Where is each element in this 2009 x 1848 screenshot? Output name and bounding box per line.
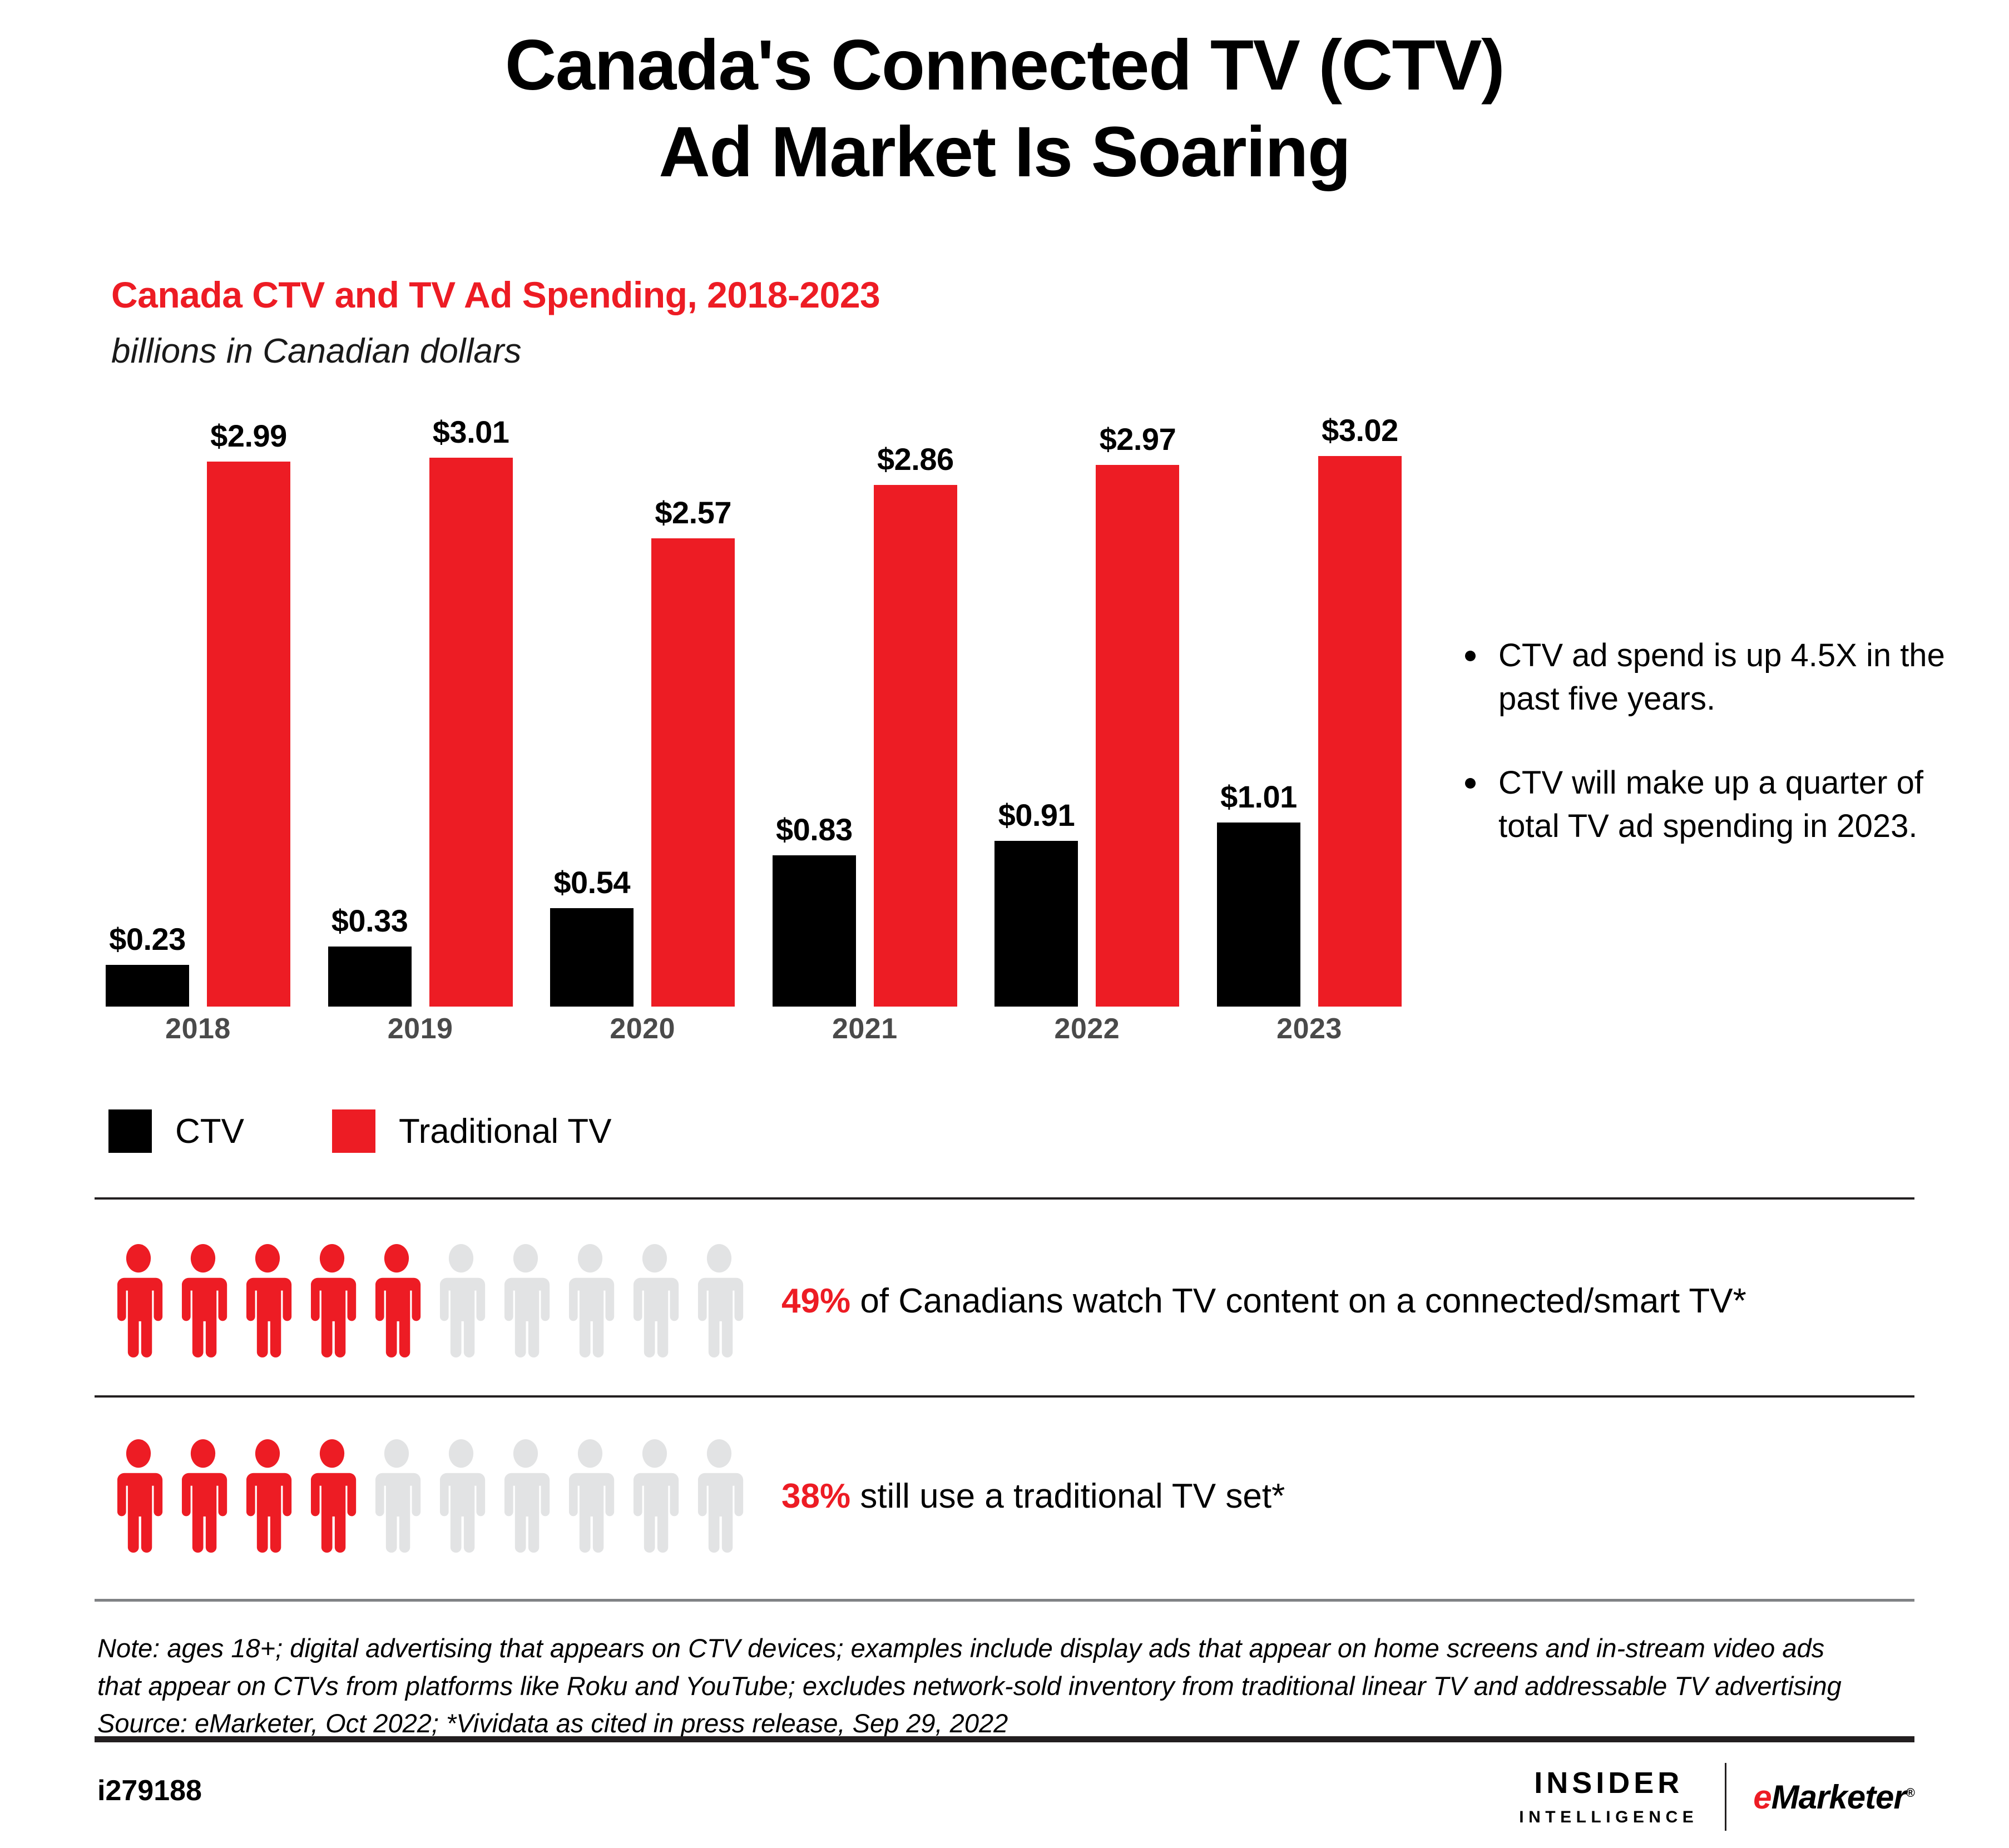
bar-value-label: $0.54 <box>553 864 630 900</box>
chart-plot-area: $0.23$2.99$0.33$3.01$0.54$2.57$0.83$2.86… <box>106 456 1402 1007</box>
person-icon <box>496 1439 556 1553</box>
takeaway-bullet-1: CTV ad spend is up 4.5X in the past five… <box>1457 634 1980 720</box>
person-icon <box>560 1439 620 1553</box>
stat-text: of Canadians watch TV content on a conne… <box>850 1282 1746 1320</box>
bar-value-label: $0.33 <box>331 903 408 939</box>
bar-value-label: $2.57 <box>655 494 731 531</box>
bar-value-label: $2.97 <box>1100 421 1176 457</box>
bar-ctv-2022: $0.91 <box>994 841 1078 1007</box>
bar-traditional-tv-2020: $2.57 <box>651 538 735 1007</box>
bar-traditional-tv-2022: $2.97 <box>1096 465 1179 1007</box>
person-icon <box>689 1244 749 1358</box>
divider-between-stats <box>95 1395 1914 1398</box>
takeaway-text: CTV will make up a quarter of total TV a… <box>1498 765 1923 844</box>
bar-value-label: $2.99 <box>210 418 287 454</box>
headline-line-1: Canada's Connected TV (CTV) <box>505 26 1504 105</box>
logo-separator <box>1725 1763 1726 1831</box>
legend-item-traditional-tv: Traditional TV <box>332 1109 612 1153</box>
bar-ctv-2021: $0.83 <box>773 855 856 1007</box>
bar-value-label: $3.01 <box>433 414 509 450</box>
legend-label: CTV <box>175 1112 244 1151</box>
note-line-1: Note: ages 18+; digital advertising that… <box>97 1629 1927 1667</box>
page-title: Canada's Connected TV (CTV) Ad Market Is… <box>0 22 2009 196</box>
emarketer-e: e <box>1753 1778 1771 1816</box>
person-icon <box>496 1244 556 1358</box>
bar-value-label: $0.83 <box>776 811 853 848</box>
pictogram-people <box>108 1244 759 1358</box>
chart-legend: CTVTraditional TV <box>108 1109 612 1153</box>
footnotes: Note: ages 18+; digital advertising that… <box>97 1629 1927 1742</box>
legend-item-ctv: CTV <box>108 1109 244 1153</box>
bar-value-label: $0.91 <box>998 797 1075 833</box>
x-axis-label-2020: 2020 <box>550 1012 735 1046</box>
bar-traditional-tv-2021: $2.86 <box>874 485 957 1007</box>
person-icon <box>625 1439 685 1553</box>
emarketer-rest: Marketer <box>1772 1778 1906 1816</box>
takeaway-text: CTV ad spend is up 4.5X in the past five… <box>1498 637 1945 717</box>
bar-traditional-tv-2018: $2.99 <box>207 462 290 1007</box>
stat-percent: 49% <box>781 1282 850 1320</box>
x-axis-label-2019: 2019 <box>328 1012 513 1046</box>
bar-value-label: $2.86 <box>877 441 954 477</box>
takeaway-bullet-2: CTV will make up a quarter of total TV a… <box>1457 761 1980 848</box>
bar-group: $0.54$2.57 <box>550 456 735 1007</box>
x-axis-label-2021: 2021 <box>773 1012 957 1046</box>
registered-mark: ® <box>1906 1786 1914 1800</box>
infographic-page: Canada's Connected TV (CTV) Ad Market Is… <box>0 0 2009 1848</box>
bar-value-label: $1.01 <box>1220 779 1297 815</box>
bar-ctv-2018: $0.23 <box>106 965 189 1007</box>
x-axis-label-2022: 2022 <box>994 1012 1179 1046</box>
stat-description: 38% still use a traditional TV set* <box>781 1477 1285 1516</box>
chart-id: i279188 <box>97 1774 202 1807</box>
legend-swatch-icon <box>108 1109 152 1153</box>
insider-logo-bottom: INTELLIGENCE <box>1519 1809 1698 1826</box>
person-icon <box>173 1244 233 1358</box>
x-axis-label-2023: 2023 <box>1217 1012 1402 1046</box>
insider-logo-top: INSIDER <box>1519 1768 1698 1798</box>
legend-label: Traditional TV <box>399 1112 612 1151</box>
bar-group: $0.83$2.86 <box>773 456 957 1007</box>
divider-above-stats <box>95 1197 1914 1200</box>
bar-value-label: $0.23 <box>109 921 186 957</box>
divider-above-footer <box>95 1736 1914 1742</box>
person-icon <box>302 1439 362 1553</box>
bar-group: $1.01$3.02 <box>1217 456 1402 1007</box>
insider-intelligence-logo: INSIDER INTELLIGENCE <box>1519 1768 1698 1826</box>
person-icon <box>367 1244 427 1358</box>
chart-subtitle: billions in Canadian dollars <box>111 331 522 371</box>
bar-chart: $0.23$2.99$0.33$3.01$0.54$2.57$0.83$2.86… <box>106 456 1402 1046</box>
key-takeaways-list: CTV ad spend is up 4.5X in the past five… <box>1457 634 1980 889</box>
bar-ctv-2023: $1.01 <box>1217 823 1300 1007</box>
bar-traditional-tv-2019: $3.01 <box>429 458 513 1007</box>
bar-group: $0.23$2.99 <box>106 456 290 1007</box>
chart-title: Canada CTV and TV Ad Spending, 2018-2023 <box>111 274 880 316</box>
emarketer-logo: eMarketer® <box>1753 1778 1914 1816</box>
bar-value-label: $3.02 <box>1322 412 1398 448</box>
person-icon <box>431 1244 491 1358</box>
stat-percent: 38% <box>781 1477 850 1515</box>
x-axis-label-2018: 2018 <box>106 1012 290 1046</box>
legend-swatch-icon <box>332 1109 375 1153</box>
bullet-dot-icon <box>1465 651 1476 661</box>
person-icon <box>302 1244 362 1358</box>
person-icon <box>367 1439 427 1553</box>
bar-ctv-2019: $0.33 <box>328 947 412 1007</box>
person-icon <box>108 1244 169 1358</box>
headline-line-2: Ad Market Is Soaring <box>0 109 2009 196</box>
divider-above-notes <box>95 1599 1914 1602</box>
stat-text: still use a traditional TV set* <box>850 1477 1285 1515</box>
stat-row-traditional-tv: 38% still use a traditional TV set* <box>108 1439 1916 1553</box>
person-icon <box>431 1439 491 1553</box>
note-line-2: that appear on CTVs from platforms like … <box>97 1667 1927 1705</box>
person-icon <box>173 1439 233 1553</box>
pictogram-people <box>108 1439 759 1553</box>
person-icon <box>625 1244 685 1358</box>
stat-description: 49% of Canadians watch TV content on a c… <box>781 1281 1746 1321</box>
bar-ctv-2020: $0.54 <box>550 908 634 1007</box>
bar-group: $0.91$2.97 <box>994 456 1179 1007</box>
person-icon <box>108 1439 169 1553</box>
stat-row-connected-tv: 49% of Canadians watch TV content on a c… <box>108 1244 1916 1358</box>
footer-logos: INSIDER INTELLIGENCE eMarketer® <box>1519 1763 1914 1831</box>
person-icon <box>689 1439 749 1553</box>
bar-traditional-tv-2023: $3.02 <box>1318 456 1402 1007</box>
person-icon <box>237 1439 298 1553</box>
bar-group: $0.33$3.01 <box>328 456 513 1007</box>
person-icon <box>237 1244 298 1358</box>
person-icon <box>560 1244 620 1358</box>
bullet-dot-icon <box>1465 778 1476 789</box>
